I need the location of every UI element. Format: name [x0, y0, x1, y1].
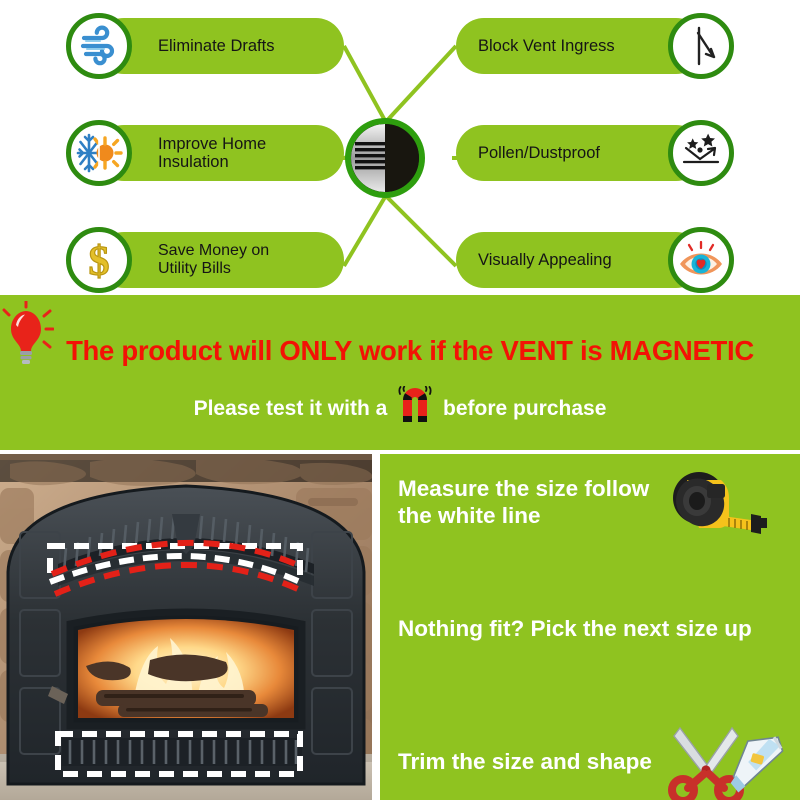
- benefit-improve-home-insulation[interactable]: Improve Home Insulation: [96, 125, 344, 181]
- step-text: Trim the size and shape: [398, 749, 652, 774]
- benefit-eliminate-drafts[interactable]: Eliminate Drafts: [96, 18, 344, 74]
- magnetic-vent-cover-icon: [345, 118, 425, 198]
- warning-subline-after: before purchase: [443, 397, 606, 420]
- steps-panel: Measure the size follow the white line: [380, 454, 800, 800]
- benefit-save-money[interactable]: $ Save Money on Utility Bills: [96, 232, 344, 288]
- step-text: Nothing fit? Pick the next size up: [398, 616, 752, 641]
- dollar-icon: $: [66, 227, 132, 293]
- benefit-label: Visually Appealing: [456, 251, 674, 269]
- warning-headline: The product will ONLY work if the VENT i…: [40, 335, 780, 367]
- fireplace-insert-with-vents-photo: [0, 454, 372, 800]
- magnetic-warning-banner: The product will ONLY work if the VENT i…: [0, 295, 800, 450]
- step-text: Measure the size follow the white line: [398, 476, 649, 528]
- benefit-label: Improve Home Insulation: [96, 135, 344, 172]
- benefit-label: Block Vent Ingress: [456, 37, 677, 55]
- tape-measure-icon: [663, 468, 781, 545]
- scissors-and-utility-knife-icon: [662, 722, 800, 800]
- benefit-visually-appealing[interactable]: Visually Appealing: [456, 232, 704, 288]
- wind-icon: [66, 13, 132, 79]
- magnet-icon: [393, 395, 437, 421]
- svg-text:$: $: [89, 239, 110, 283]
- benefits-diagram: Eliminate Drafts: [0, 0, 800, 295]
- measure-instructions-section: Measure the size follow the white line: [0, 450, 800, 800]
- benefit-block-vent-ingress[interactable]: Block Vent Ingress: [456, 18, 704, 74]
- warning-subline-before: Please test it with a: [194, 397, 388, 420]
- warning-subline: Please test it with a before purc: [0, 395, 800, 421]
- pollen-deflect-icon: [668, 120, 734, 186]
- product-infographic: Eliminate Drafts: [0, 0, 800, 800]
- snowflake-sun-icon: [66, 120, 132, 186]
- blocked-arrow-icon: [668, 13, 734, 79]
- eye-heart-icon: [668, 227, 734, 293]
- benefit-label: Pollen/Dustproof: [456, 144, 662, 162]
- step-pick-next-size: Nothing fit? Pick the next size up: [398, 616, 788, 643]
- benefit-pollen-dustproof[interactable]: Pollen/Dustproof: [456, 125, 704, 181]
